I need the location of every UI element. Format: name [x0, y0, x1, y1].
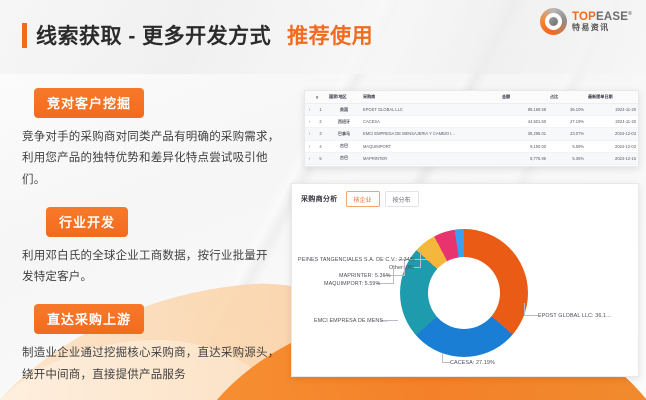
col-amount[interactable]: 金额 [500, 91, 548, 104]
feature-desc-1: 竞争对手的采购商对同类产品有明确的采购需求， 利用您产品的独特优势和差异化特点尝… [22, 127, 284, 191]
feature-tag-1: 竞对客户挖掘 [34, 88, 144, 118]
leader-line-peines [429, 241, 430, 259]
tab-core-enterprise[interactable]: 核企业 [346, 191, 380, 207]
leader-line-maqui [393, 269, 394, 283]
chart-label-peines: PEINES TANGENCIALES S.A. DE C.V.: 2.34% [298, 257, 415, 263]
cell-percent: 5.36% [548, 152, 586, 164]
chart-label-maquimport: MAQUIMPORT: 5.59% [324, 281, 380, 287]
cell-amount: 3,833.87 [500, 164, 548, 167]
feature-desc-2: 利用邓白氏的全球企业工商数据，按行业批量开 发特定客户。 [22, 246, 284, 289]
buyer-analysis-panel: 采购商分析 核企业 按分布 PEINES TANGENCIALES S.A. D… [291, 183, 639, 377]
cell-expand[interactable]: › [305, 140, 314, 152]
chart-tabs: 核企业 按分布 [346, 191, 419, 207]
feature-desc-3-line-1: 制造业企业通过挖掘核心采购商，直达采购源头， [22, 343, 284, 364]
feature-list: 竞对客户挖掘 竞争对手的采购商对同类产品有明确的采购需求， 利用您产品的独特优势… [22, 88, 284, 400]
chart-title: 采购商分析 [301, 194, 338, 204]
col-latest-date: 最新提单日期 [586, 91, 638, 104]
logo-word-top: TOP [572, 11, 596, 23]
cell-country: 墨西哥 [327, 164, 361, 167]
feature-tag-2: 行业开发 [46, 207, 128, 237]
cell-percent: 27.19% [548, 116, 586, 128]
logo-ring-icon [540, 8, 567, 35]
logo-registered-mark: ® [628, 11, 632, 17]
cell-date: 2024-12-03 [586, 128, 638, 140]
leader-line-other [420, 251, 421, 268]
cell-index: 3 [314, 128, 327, 140]
cell-country: 美国 [327, 104, 361, 116]
cell-country: 西班牙 [327, 116, 361, 128]
table-row[interactable]: ›4古巴MAQUIMPORT9,150.005.59%2024-12-03 [305, 140, 638, 152]
chart-label-other: Other: 0% [389, 265, 414, 271]
cell-amount: 8,775.96 [500, 152, 548, 164]
buyer-table: # 国家/地区 采购商 金额 占比 最新提单日期 ›1美国EPOST GLOBA… [305, 91, 638, 167]
page-title: 线索获取 - 更多开发方式 推荐使用 [22, 20, 373, 50]
cell-percent: 5.59% [548, 140, 586, 152]
table-header-row: # 国家/地区 采购商 金额 占比 最新提单日期 [305, 91, 638, 104]
cell-percent: 36.10% [548, 104, 586, 116]
title-highlight-text: 推荐使用 [287, 20, 373, 50]
chart-label-emci: EMCI EMPRESA DE MENS... [314, 318, 388, 324]
cell-date: 2024-12-16 [586, 152, 638, 164]
cell-buyer-name[interactable]: EMCI EMPRESA DE MENSAJERIA Y CAMBIO I... [361, 128, 500, 140]
feature-desc-3: 制造业企业通过挖掘核心采购商，直达采购源头， 绕开中间商，直接提供产品服务 [22, 343, 284, 386]
table-row[interactable]: ›1美国EPOST GLOBAL LLC89,169.5836.10%2024-… [305, 104, 638, 116]
table-row[interactable]: ›2西班牙CACESA44,501.5027.19%2024-11-20 [305, 116, 638, 128]
logo-word-ease: EASE [596, 11, 628, 23]
cell-date: 2024-11-20 [586, 116, 638, 128]
brand-logo: TOPEASE® 特易资讯 [540, 8, 632, 35]
donut-chart-area: PEINES TANGENCIALES S.A. DE C.V.: 2.34% … [292, 207, 640, 375]
cell-date: 2022-02-24 [586, 164, 638, 167]
cell-expand[interactable]: › [305, 128, 314, 140]
cell-country: 古巴 [327, 152, 361, 164]
logo-subtitle: 特易资讯 [572, 24, 632, 32]
table-row[interactable]: ›5古巴MAPRINTER8,775.965.36%2024-12-16 [305, 152, 638, 164]
leader-line-epost-v [524, 303, 525, 316]
feature-desc-1-line-1: 竞争对手的采购商对同类产品有明确的采购需求， [22, 127, 284, 148]
cell-date: 2024-11-20 [586, 104, 638, 116]
cell-index: 6 [314, 164, 327, 167]
table-row[interactable]: ›3巴拿马EMCI EMPRESA DE MENSAJERIA Y CAMBIO… [305, 128, 638, 140]
donut-chart[interactable] [400, 229, 528, 357]
cell-expand[interactable]: › [305, 116, 314, 128]
cell-amount: 9,150.00 [500, 140, 548, 152]
cell-expand[interactable]: › [305, 164, 314, 167]
leader-line-epost [524, 315, 538, 316]
cell-expand[interactable]: › [305, 152, 314, 164]
feature-block-2: 行业开发 利用邓白氏的全球企业工商数据，按行业批量开 发特定客户。 [22, 207, 284, 289]
col-percent: 占比 [548, 91, 586, 104]
cell-amount: 89,169.58 [500, 104, 548, 116]
col-buyer: 采购商 [361, 91, 500, 104]
cell-buyer-name[interactable]: EPOST GLOBAL LLC [361, 104, 500, 116]
cell-buyer-name[interactable]: MAPRINTER [361, 152, 500, 164]
buyer-table-panel: # 国家/地区 采购商 金额 占比 最新提单日期 ›1美国EPOST GLOBA… [304, 90, 639, 167]
col-expand [305, 91, 314, 104]
feature-desc-3-line-2: 绕开中间商，直接提供产品服务 [22, 365, 284, 386]
cell-index: 5 [314, 152, 327, 164]
feature-block-1: 竞对客户挖掘 竞争对手的采购商对同类产品有明确的采购需求， 利用您产品的独特优势… [22, 88, 284, 191]
title-accent-bar [22, 23, 27, 48]
chart-label-maprinter: MAPRINTER: 5.36% [339, 273, 391, 279]
cell-buyer-name[interactable]: MAQUIMPORT [361, 140, 500, 152]
cell-buyer-name[interactable]: CACESA [361, 116, 500, 128]
tab-distribution[interactable]: 按分布 [385, 191, 419, 207]
feature-desc-1-line-2: 利用您产品的独特优势和差异化特点尝试吸引他们。 [22, 148, 284, 191]
cell-country: 古巴 [327, 140, 361, 152]
cell-date: 2024-12-03 [586, 140, 638, 152]
title-main-text: 线索获取 - 更多开发方式 [36, 20, 271, 50]
cell-expand[interactable]: › [305, 104, 314, 116]
cell-amount: 44,501.50 [500, 116, 548, 128]
feature-desc-2-line-2: 发特定客户。 [22, 267, 284, 288]
cell-index: 2 [314, 116, 327, 128]
table-row[interactable]: ›6墨西哥PEINES TANGENCIALES S.A. DE C.V.3,8… [305, 164, 638, 167]
logo-wordmark: TOPEASE® [572, 11, 632, 23]
chart-label-epost: EPOST GLOBAL LLC: 36.1... [538, 313, 611, 319]
feature-block-3: 直达采购上游 制造业企业通过挖掘核心采购商，直达采购源头， 绕开中间商，直接提供… [22, 304, 284, 386]
cell-percent: 23.07% [548, 128, 586, 140]
cell-buyer-name[interactable]: PEINES TANGENCIALES S.A. DE C.V. [361, 164, 500, 167]
table-body: ›1美国EPOST GLOBAL LLC89,169.5836.10%2024-… [305, 104, 638, 168]
col-index: # [314, 91, 327, 104]
cell-country: 巴拿马 [327, 128, 361, 140]
cell-index: 4 [314, 140, 327, 152]
leader-line-cacesa-h [442, 362, 450, 363]
cell-amount: 38,295.01 [500, 128, 548, 140]
cell-percent: 2.34% [548, 164, 586, 167]
col-country[interactable]: 国家/地区 [327, 91, 361, 104]
feature-tag-3: 直达采购上游 [34, 304, 144, 334]
chart-label-cacesa: CACESA: 27.19% [450, 360, 495, 366]
feature-desc-2-line-1: 利用邓白氏的全球企业工商数据，按行业批量开 [22, 246, 284, 267]
chart-header: 采购商分析 核企业 按分布 [292, 184, 638, 207]
cell-index: 1 [314, 104, 327, 116]
